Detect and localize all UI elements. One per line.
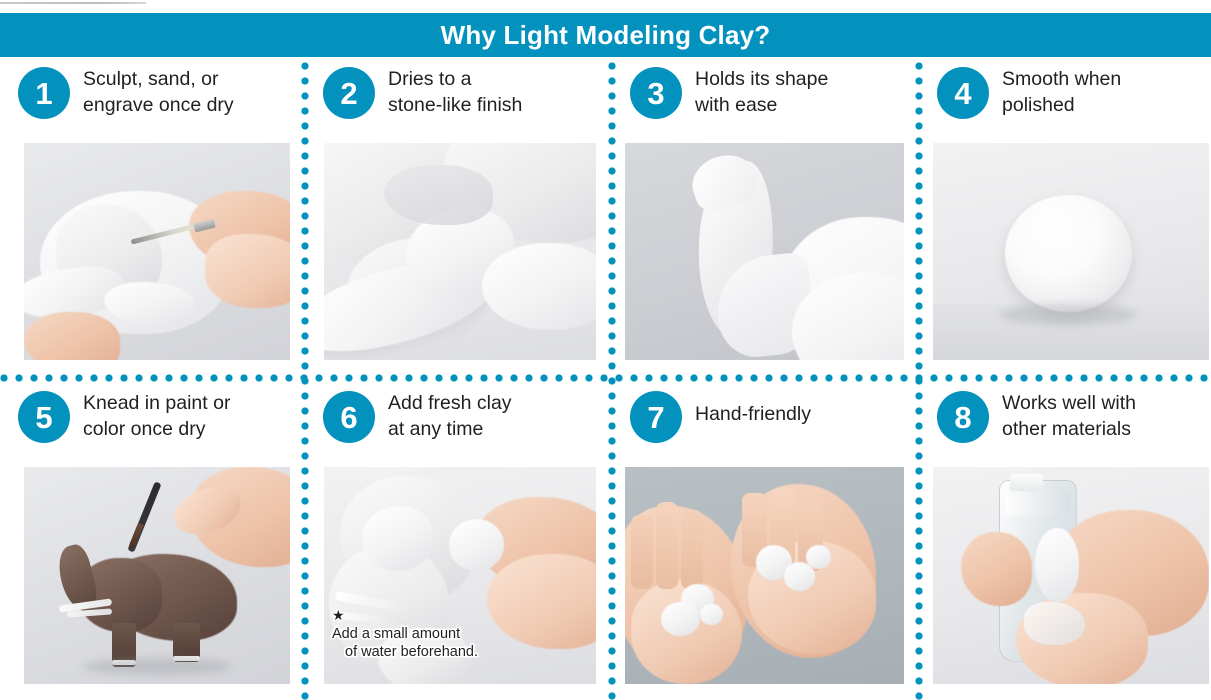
page-title: Why Light Modeling Clay? xyxy=(441,22,771,48)
benefit-card-8[interactable]: 8 Works well with other materials xyxy=(919,381,1211,700)
card-photo-3 xyxy=(625,143,904,360)
photo-caption-6: ★ Add a small amount of water beforehand… xyxy=(332,588,582,679)
number-badge-6: 6 xyxy=(323,391,375,443)
benefit-card-4[interactable]: 4 Smooth when polished xyxy=(919,57,1211,378)
card-photo-2 xyxy=(324,143,596,360)
benefit-card-2[interactable]: 2 Dries to a stone-like finish xyxy=(305,57,608,378)
card-photo-7 xyxy=(625,467,904,684)
benefit-card-3[interactable]: 3 Holds its shape with ease xyxy=(612,57,915,378)
card-label-4: Smooth when polished xyxy=(1002,67,1121,118)
card-label-8: Works well with other materials xyxy=(1002,391,1136,442)
infographic-page: Why Light Modeling Clay? 1 Sculpt, sand,… xyxy=(0,0,1211,700)
card-photo-6: ★ Add a small amount of water beforehand… xyxy=(324,467,596,684)
card-header-3: 3 Holds its shape with ease xyxy=(612,57,915,141)
divider-horizontal xyxy=(0,374,1211,382)
card-label-6: Add fresh clay at any time xyxy=(388,391,512,442)
card-header-7: 7 Hand-friendly xyxy=(612,381,915,465)
benefit-card-5[interactable]: 5 Knead in paint or color once dry xyxy=(0,381,303,700)
number-badge-8: 8 xyxy=(937,391,989,443)
card-photo-8 xyxy=(933,467,1209,684)
benefit-card-7[interactable]: 7 Hand-friendly xyxy=(612,381,915,700)
card-header-6: 6 Add fresh clay at any time xyxy=(305,381,608,465)
number-badge-3: 3 xyxy=(630,67,682,119)
card-header-2: 2 Dries to a stone-like finish xyxy=(305,57,608,141)
card-header-5: 5 Knead in paint or color once dry xyxy=(0,381,303,465)
number-badge-4: 4 xyxy=(937,67,989,119)
card-label-2: Dries to a stone-like finish xyxy=(388,67,522,118)
number-badge-7: 7 xyxy=(630,391,682,443)
card-label-5: Knead in paint or color once dry xyxy=(83,391,230,442)
card-header-1: 1 Sculpt, sand, or engrave once dry xyxy=(0,57,303,141)
number-badge-5: 5 xyxy=(18,391,70,443)
card-photo-5 xyxy=(24,467,290,684)
header-banner: Why Light Modeling Clay? xyxy=(0,13,1211,57)
caption-line-2: of water beforehand. xyxy=(345,643,582,661)
caption-line-1: Add a small amount xyxy=(332,626,460,642)
card-header-4: 4 Smooth when polished xyxy=(919,57,1211,141)
card-header-8: 8 Works well with other materials xyxy=(919,381,1211,465)
benefit-card-1[interactable]: 1 Sculpt, sand, or engrave once dry xyxy=(0,57,303,378)
card-label-1: Sculpt, sand, or engrave once dry xyxy=(83,67,234,118)
top-divider-rule xyxy=(0,2,146,4)
card-photo-4 xyxy=(933,143,1209,360)
number-badge-2: 2 xyxy=(323,67,375,119)
star-icon: ★ xyxy=(332,607,345,623)
number-badge-1: 1 xyxy=(18,67,70,119)
card-label-7: Hand-friendly xyxy=(695,402,811,428)
benefit-card-6[interactable]: 6 Add fresh clay at any time ★ A xyxy=(305,381,608,700)
card-photo-1 xyxy=(24,143,290,360)
card-label-3: Holds its shape with ease xyxy=(695,67,828,118)
